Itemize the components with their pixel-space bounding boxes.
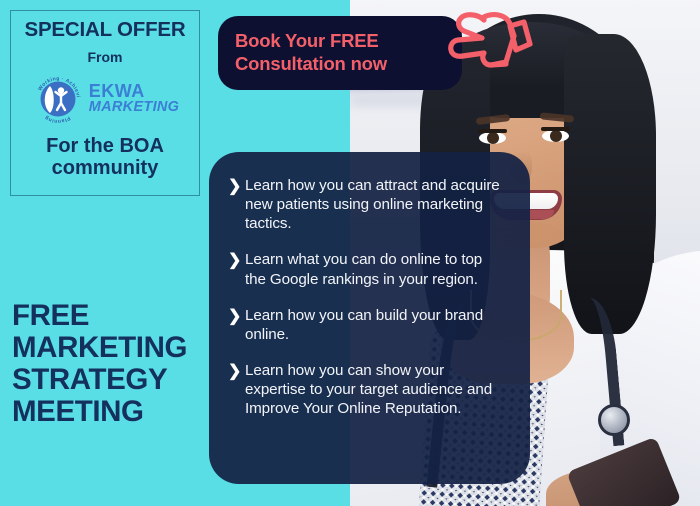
eyelash-right [541, 127, 570, 131]
eye-right [542, 130, 569, 142]
chevron-right-icon: ❯ [228, 306, 245, 344]
list-item: ❯ Learn what you can do online to top th… [228, 250, 504, 288]
ekwa-circle-figure-logo: Working · Achieving Planning [31, 72, 85, 126]
benefit-text: Learn how you can build your brand onlin… [245, 306, 504, 344]
ekwa-logo: Working · Achieving Planning EKWA MARKET… [11, 72, 199, 126]
stethoscope-chestpiece [598, 404, 630, 436]
headline-line-3: STRATEGY [12, 364, 212, 396]
chevron-right-icon: ❯ [228, 250, 245, 288]
ekwa-name: EKWA [89, 82, 180, 100]
page-title: FREE MARKETING STRATEGY MEETING [12, 300, 212, 427]
chevron-right-icon: ❯ [228, 361, 245, 418]
eye-left [479, 132, 506, 144]
pointing-hand-cursor-icon [448, 4, 534, 78]
eyelash-left [478, 129, 507, 133]
audience-line-1: For the BOA [11, 135, 199, 157]
benefits-panel: ❯ Learn how you can attract and acquire … [209, 152, 530, 484]
audience-line-2: community [11, 157, 199, 179]
cyan-panel: SPECIAL OFFER From Working · Ac [0, 0, 209, 506]
chevron-right-icon: ❯ [228, 176, 245, 233]
cta-line-1: Book Your FREE [235, 30, 462, 53]
headline-line-4: MEETING [12, 396, 212, 428]
book-consultation-button[interactable]: Book Your FREE Consultation now [218, 16, 462, 90]
ekwa-logo-wordmark: EKWA MARKETING [89, 82, 180, 115]
audience-text: For the BOA community [11, 135, 199, 180]
list-item: ❯ Learn how you can build your brand onl… [228, 306, 504, 344]
list-item: ❯ Learn how you can attract and acquire … [228, 176, 504, 233]
ekwa-tagline: MARKETING [89, 100, 180, 115]
cta-line-2: Consultation now [235, 53, 462, 76]
ad-banner: SPECIAL OFFER From Working · Ac [0, 0, 700, 506]
special-offer-title: SPECIAL OFFER [11, 20, 199, 41]
list-item: ❯ Learn how you can show your expertise … [228, 361, 504, 418]
headline-line-2: MARKETING [12, 332, 212, 364]
benefit-text: Learn what you can do online to top the … [245, 250, 504, 288]
headline-line-1: FREE [12, 300, 212, 332]
hair-right-strand [564, 34, 656, 334]
benefit-text: Learn how you can show your expertise to… [245, 361, 504, 418]
benefit-text: Learn how you can attract and acquire ne… [245, 176, 504, 233]
special-offer-box: SPECIAL OFFER From Working · Ac [10, 10, 200, 196]
from-label: From [11, 50, 199, 64]
